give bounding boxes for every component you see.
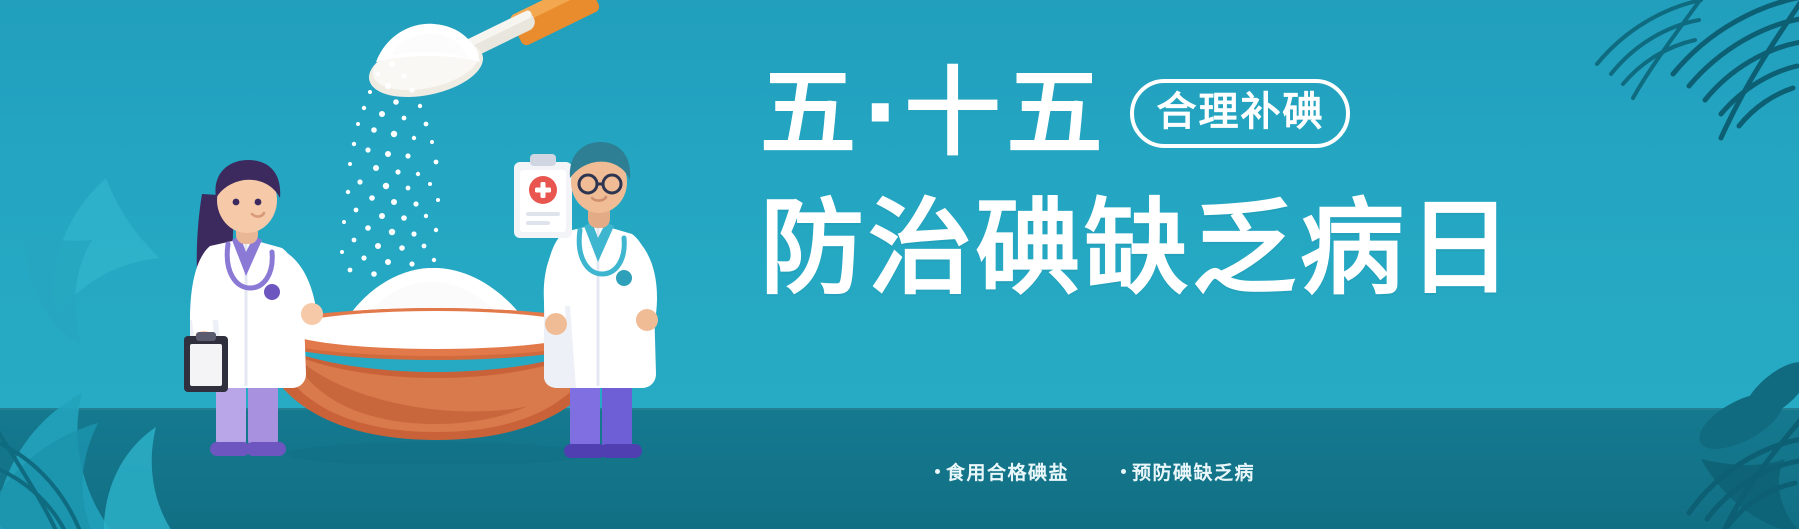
- date-title-row: 五·十五 合理补碘: [760, 58, 1460, 168]
- tagline-label: 食用合格碘盐: [946, 458, 1069, 485]
- tagline-label: 预防碘缺乏病: [1132, 458, 1255, 485]
- tagline-item: 食用合格碘盐: [935, 458, 1069, 485]
- iodine-deficiency-day-banner: 五·十五 合理补碘 防治碘缺乏病日 食用合格碘盐 预防碘缺乏病: [0, 0, 1799, 529]
- slogan-badge: 合理补碘: [1130, 79, 1350, 148]
- date-title: 五·十五: [760, 63, 1108, 163]
- page-title: 防治碘缺乏病日: [760, 194, 1460, 302]
- tagline-item: 预防碘缺乏病: [1121, 458, 1255, 485]
- bullet-dot-icon: [1121, 469, 1126, 474]
- headline-text-block: 五·十五 合理补碘 防治碘缺乏病日: [760, 58, 1460, 358]
- male-doctor-illustration: [508, 140, 688, 460]
- female-doctor-illustration: [150, 160, 350, 460]
- medical-cross-icon: [529, 176, 557, 204]
- bullet-dot-icon: [935, 469, 940, 474]
- tagline-list: 食用合格碘盐 预防碘缺乏病: [935, 458, 1255, 485]
